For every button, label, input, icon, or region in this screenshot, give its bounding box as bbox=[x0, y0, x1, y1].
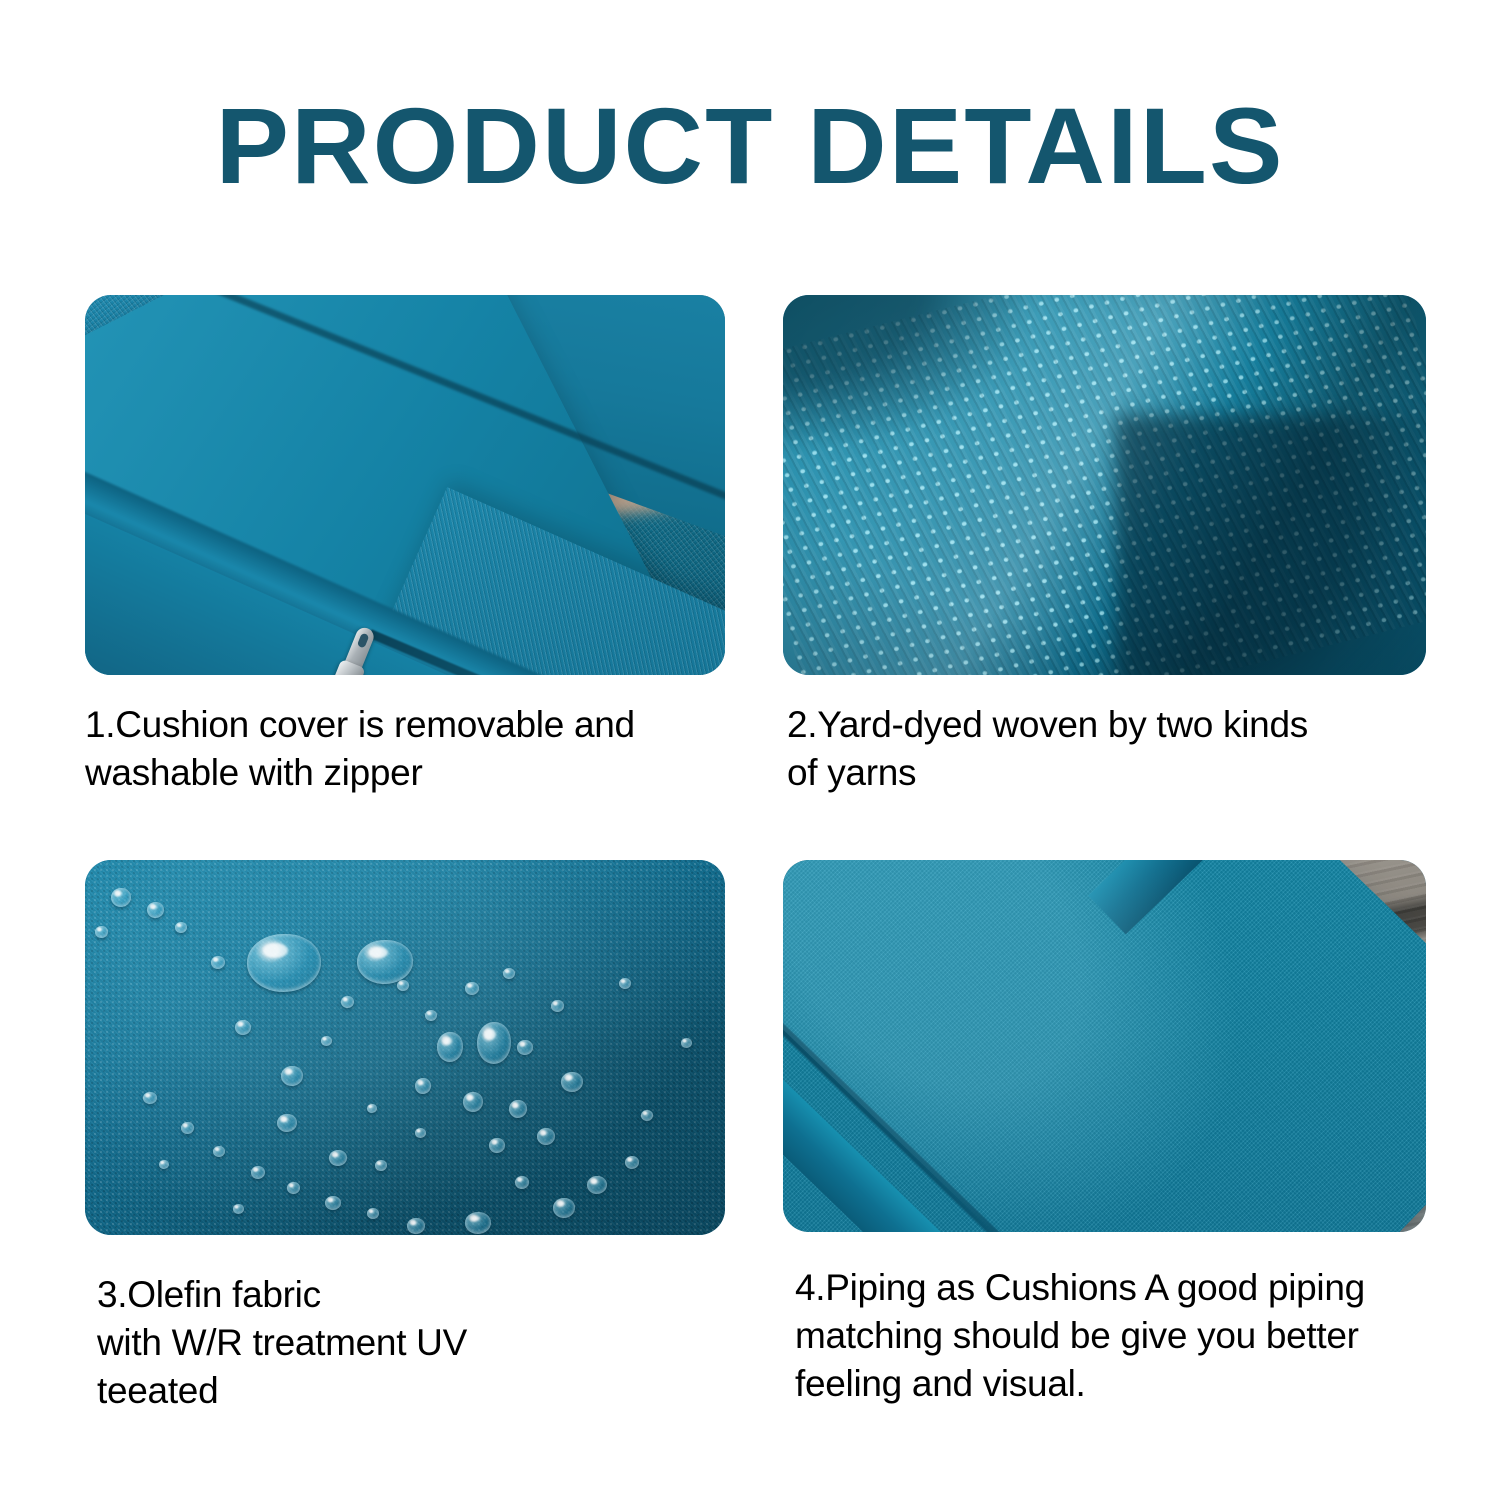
water-droplet bbox=[425, 1010, 437, 1021]
water-droplet bbox=[251, 1166, 265, 1179]
water-droplet bbox=[415, 1078, 431, 1094]
detail-caption-2: 2.Yard-dyed woven by two kinds of yarns bbox=[787, 701, 1447, 797]
product-details-grid: 1.Cushion cover is removable and washabl… bbox=[0, 0, 1500, 1500]
water-droplet bbox=[561, 1072, 583, 1092]
water-droplet bbox=[367, 1208, 379, 1219]
water-droplet bbox=[213, 1146, 225, 1157]
water-droplet bbox=[143, 1092, 157, 1104]
water-droplet bbox=[503, 968, 515, 979]
water-droplet bbox=[517, 1040, 533, 1055]
water-droplet bbox=[397, 980, 409, 991]
water-droplet bbox=[181, 1122, 194, 1134]
water-droplet bbox=[175, 922, 187, 933]
water-droplet bbox=[159, 1160, 169, 1169]
water-droplet bbox=[147, 902, 164, 918]
detail-caption-1: 1.Cushion cover is removable and washabl… bbox=[85, 701, 745, 797]
water-droplet bbox=[247, 934, 321, 992]
detail-cell-1: 1.Cushion cover is removable and washabl… bbox=[85, 295, 745, 797]
photo-cushion-piping bbox=[783, 860, 1426, 1232]
water-droplet bbox=[463, 1092, 483, 1112]
photo-woven-fabric bbox=[783, 295, 1426, 675]
water-droplet bbox=[537, 1128, 555, 1145]
detail-cell-3: 3.Olefin fabric with W/R treatment UV te… bbox=[85, 860, 757, 1415]
water-droplet bbox=[489, 1138, 505, 1153]
water-droplet bbox=[437, 1032, 463, 1062]
detail-cell-4: 4.Piping as Cushions A good piping match… bbox=[783, 860, 1475, 1408]
vignette bbox=[783, 295, 1426, 675]
water-droplet bbox=[681, 1038, 692, 1048]
water-droplet bbox=[553, 1198, 575, 1218]
water-droplet bbox=[641, 1110, 653, 1121]
water-droplet bbox=[587, 1176, 607, 1194]
water-droplet bbox=[625, 1156, 639, 1169]
water-droplet bbox=[321, 1036, 332, 1046]
detail-cell-2: 2.Yard-dyed woven by two kinds of yarns bbox=[783, 295, 1447, 797]
water-droplet bbox=[375, 1160, 387, 1171]
water-droplet bbox=[407, 1218, 425, 1234]
water-droplet bbox=[465, 982, 479, 995]
water-droplet bbox=[465, 1212, 491, 1234]
water-droplet bbox=[619, 978, 631, 989]
water-droplet bbox=[233, 1204, 244, 1214]
water-droplet bbox=[551, 1000, 564, 1012]
water-droplet bbox=[281, 1066, 303, 1086]
photo-water-repellent bbox=[85, 860, 725, 1235]
water-droplet bbox=[211, 956, 225, 969]
water-droplet bbox=[95, 926, 108, 938]
water-droplet bbox=[235, 1020, 251, 1035]
photo-zipper-cushion bbox=[85, 295, 725, 675]
detail-caption-3: 3.Olefin fabric with W/R treatment UV te… bbox=[97, 1271, 757, 1415]
repellent-lighting bbox=[85, 860, 725, 1235]
water-droplet bbox=[357, 940, 413, 984]
water-droplet bbox=[325, 1196, 341, 1210]
water-droplet bbox=[111, 888, 131, 907]
water-droplet bbox=[477, 1022, 511, 1064]
water-droplet bbox=[341, 996, 354, 1008]
water-droplet bbox=[367, 1104, 377, 1113]
detail-caption-4: 4.Piping as Cushions A good piping match… bbox=[795, 1264, 1475, 1408]
water-droplet bbox=[515, 1176, 529, 1189]
water-droplet bbox=[415, 1128, 426, 1138]
water-droplet bbox=[287, 1182, 300, 1194]
water-droplet bbox=[509, 1100, 527, 1118]
water-droplet bbox=[277, 1114, 297, 1132]
water-droplet bbox=[329, 1150, 347, 1166]
